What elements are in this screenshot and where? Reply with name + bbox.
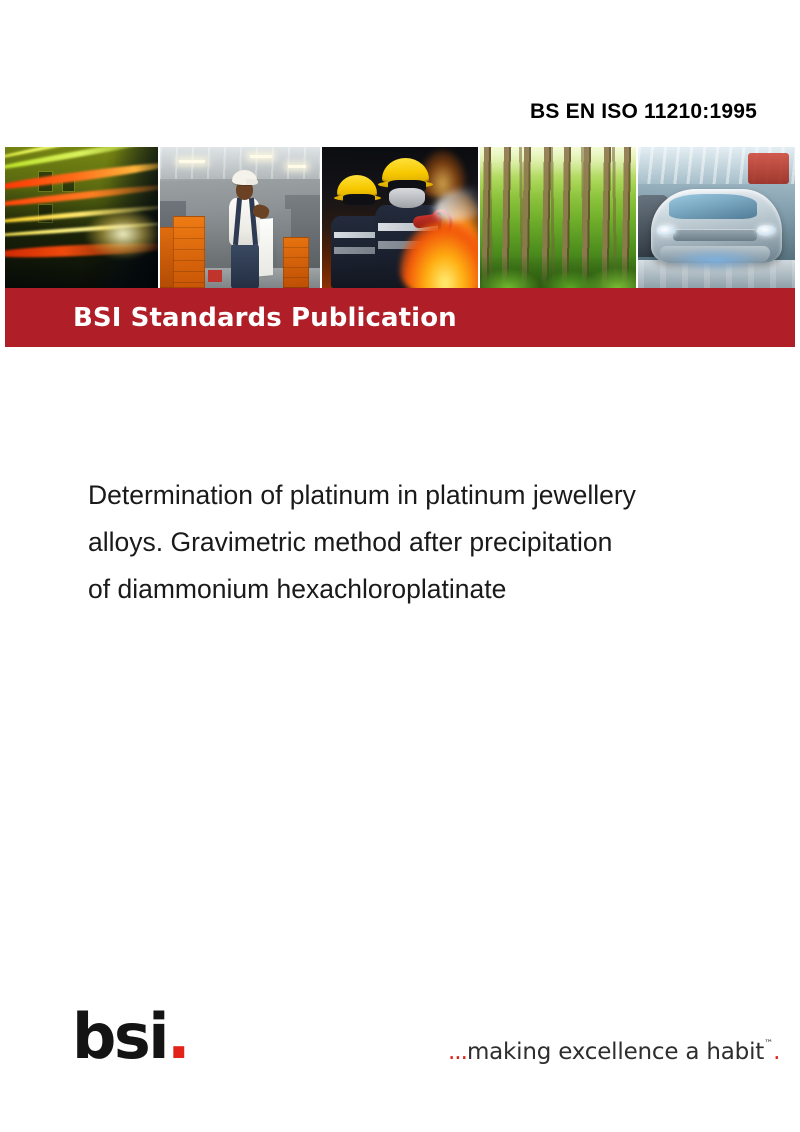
floor-light-reflection <box>666 249 763 272</box>
title-line: Determination of platinum in platinum je… <box>88 472 788 519</box>
photo-panel-night-traffic-light-trails <box>5 147 158 288</box>
banner-title: BSI Standards Publication <box>73 303 457 333</box>
title-line: of diammonium hexachloroplatinate <box>88 566 788 613</box>
standard-number: BS EN ISO 11210:1995 <box>0 100 757 124</box>
photo-panel-firefighters <box>322 147 478 288</box>
bsi-logo-text: bsi <box>72 1000 167 1073</box>
title-line: alloys. Gravimetric method after precipi… <box>88 519 788 566</box>
bsi-standards-banner: BSI Standards Publication <box>5 288 795 347</box>
page-title: Determination of platinum in platinum je… <box>88 472 788 613</box>
photo-panel-car-assembly-line <box>638 147 795 288</box>
worker-legs <box>231 243 259 288</box>
tagline-end-dot: . <box>773 1039 780 1065</box>
bsi-logo: bsi. <box>72 1006 191 1068</box>
tagline-leading-ellipsis: ... <box>448 1039 467 1065</box>
headlight-glow <box>85 209 158 259</box>
document-cover-page: BS EN ISO 11210:1995 <box>0 0 800 1132</box>
cover-photo-strip <box>5 147 795 288</box>
ceiling-lamp <box>288 165 306 168</box>
trademark-icon: ™ <box>764 1039 773 1049</box>
worker-cap <box>232 170 257 185</box>
car-windshield <box>669 194 757 219</box>
car-headlight <box>657 225 676 236</box>
orange-crate <box>283 237 309 288</box>
ceiling-lamp <box>250 155 272 158</box>
tagline-text: making excellence a habit <box>467 1039 764 1065</box>
car-headlight <box>757 225 776 236</box>
bsi-tagline: ...making excellence a habit™. <box>448 1039 780 1065</box>
photo-panel-forest <box>480 147 636 288</box>
photo-panel-warehouse-worker <box>160 147 320 288</box>
overhead-rig <box>748 153 789 184</box>
breathing-mask <box>389 188 424 207</box>
red-box <box>208 270 222 283</box>
forest-understory <box>480 257 636 288</box>
warehouse-worker-figure <box>224 170 272 288</box>
ceiling-lamp <box>179 160 205 163</box>
helmet-visor <box>343 194 376 204</box>
orange-crate <box>173 216 205 288</box>
bsi-logo-dot: . <box>167 1000 191 1073</box>
car-grille <box>673 229 758 242</box>
